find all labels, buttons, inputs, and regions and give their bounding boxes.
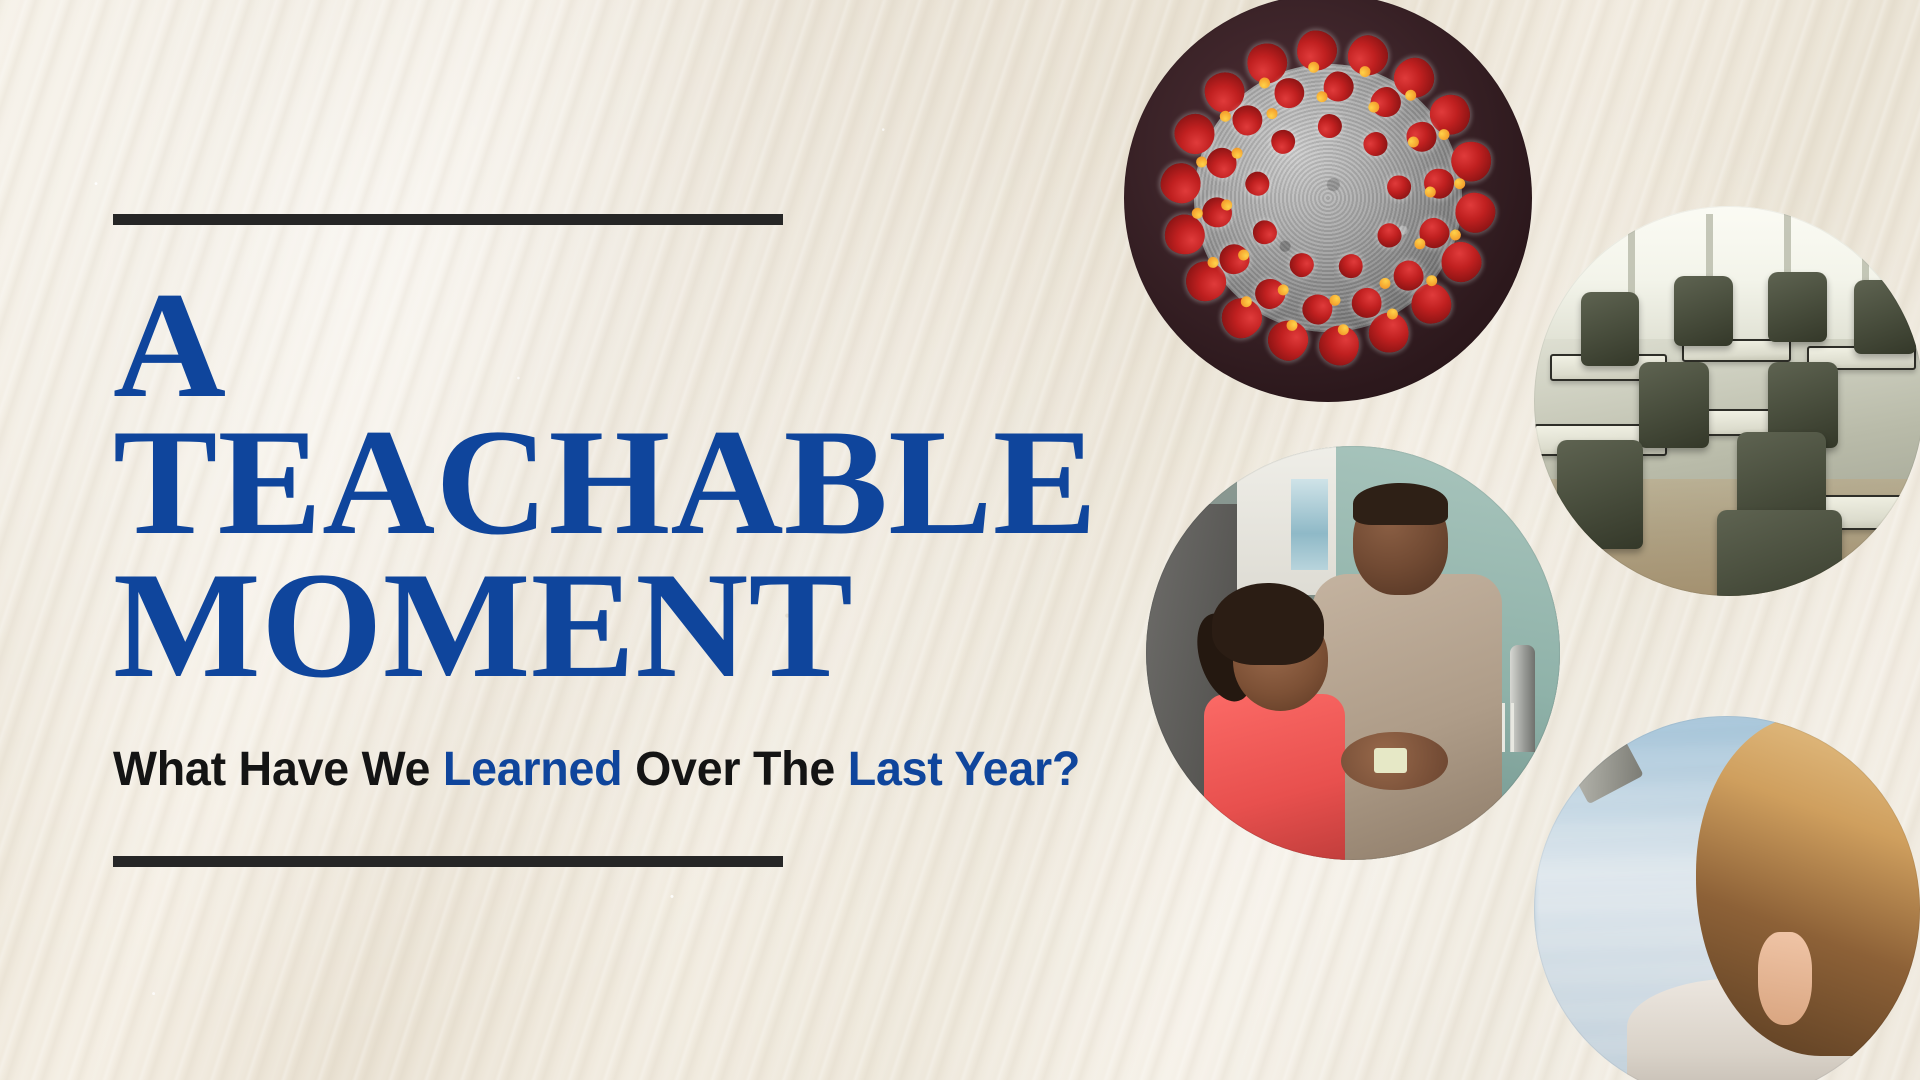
woman-hand (1758, 932, 1812, 1025)
classroom-chair (1557, 440, 1643, 549)
bottom-divider-rule (113, 856, 783, 867)
classroom-chair (1717, 510, 1842, 596)
girl-hair (1212, 583, 1324, 666)
classroom-chair (1674, 276, 1733, 346)
father-hair (1353, 483, 1448, 524)
subtitle-part-highlight-1: Learned (443, 743, 622, 796)
headline-line-2: MOMENT (113, 557, 1153, 694)
handwashing-family-image (1146, 446, 1560, 860)
classroom-chair (1854, 280, 1916, 354)
bar-of-soap (1374, 748, 1407, 773)
classroom-chair (1768, 272, 1827, 342)
subtitle-part-highlight-2: Last Year? (848, 743, 1080, 796)
page-title: A TEACHABLE MOMENT (113, 277, 1123, 693)
subtitle-part-plain-1: What Have We (113, 743, 443, 796)
virus-dot (1454, 178, 1466, 190)
empty-classroom-image (1534, 206, 1920, 596)
coronavirus-particle-image (1124, 0, 1532, 402)
classroom-chair (1639, 362, 1709, 448)
subtitle-rule-gap (113, 796, 1123, 856)
classroom-chair (1581, 292, 1640, 366)
woman-at-window-image (1534, 716, 1920, 1080)
virus-spike (1453, 191, 1497, 235)
top-divider-rule (113, 214, 783, 225)
wall-poster (1291, 479, 1328, 570)
subtitle-part-plain-2: Over The (622, 743, 847, 796)
headline-line-1: A TEACHABLE (113, 277, 1153, 551)
title-block: A TEACHABLE MOMENT What Have We Learned … (113, 214, 1123, 867)
girl-torso (1204, 694, 1345, 860)
subtitle: What Have We Learned Over The Last Year? (113, 745, 1093, 795)
